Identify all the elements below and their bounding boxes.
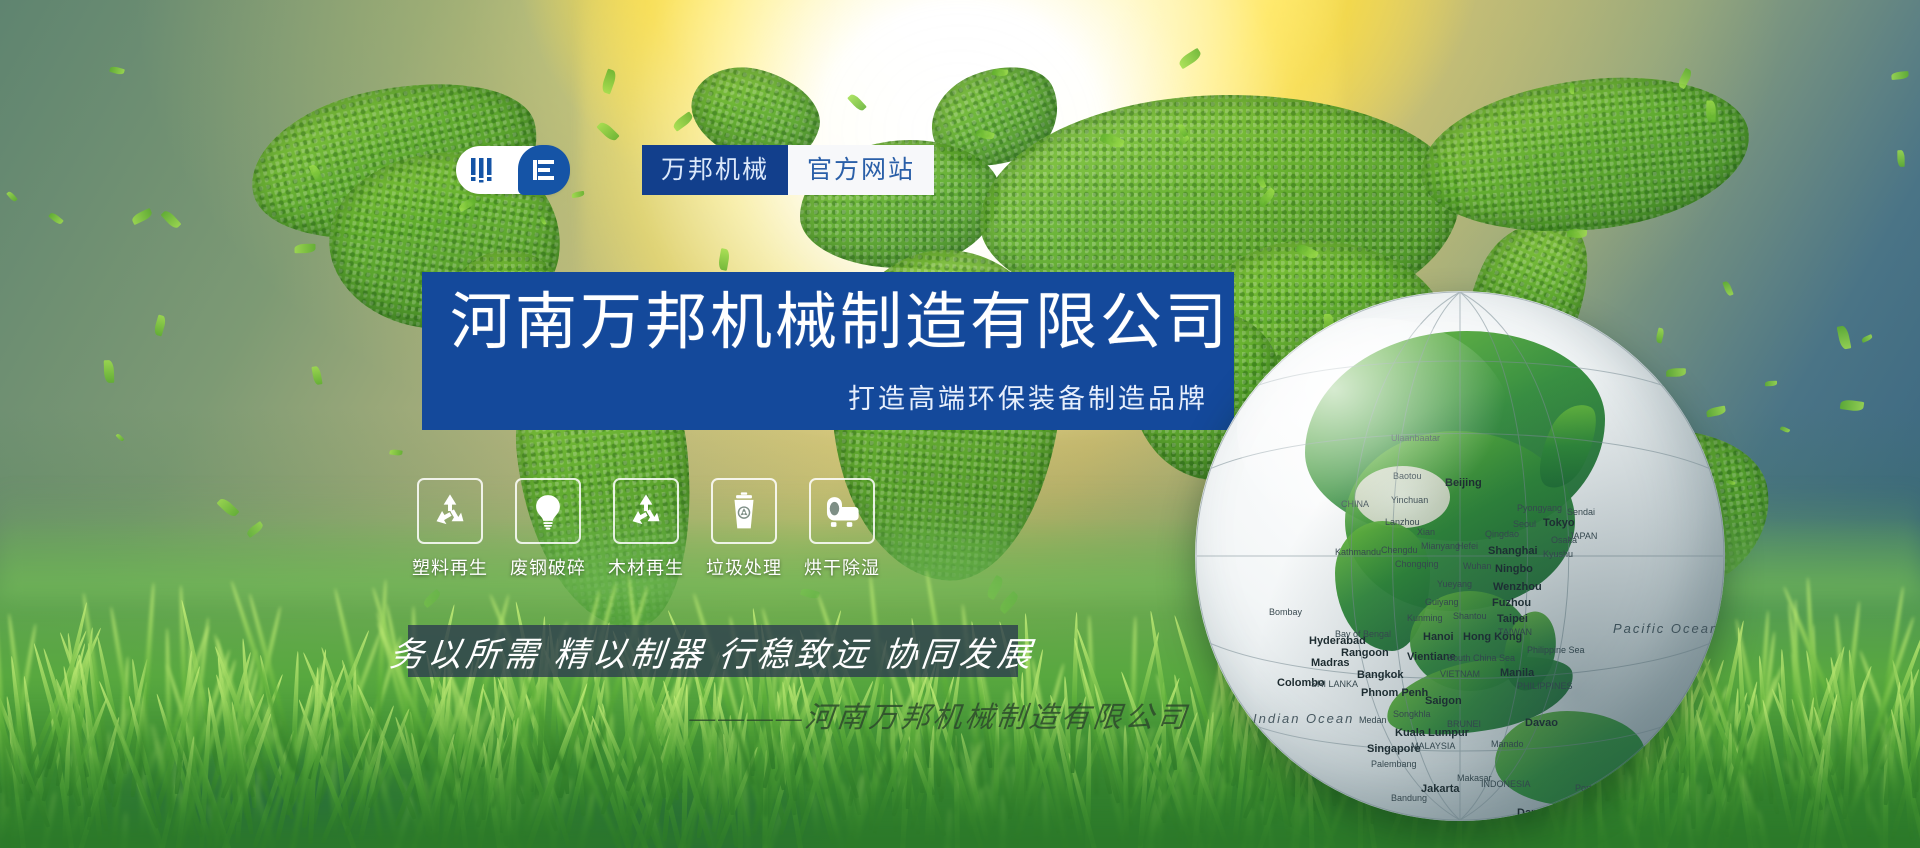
leaf-fleck	[104, 359, 115, 382]
leaf-fleck	[571, 191, 584, 198]
globe-shading	[1195, 291, 1725, 821]
service-icon-row[interactable]: 塑料再生废钢破碎木材再生垃圾处理烘干除湿	[419, 478, 873, 580]
leaf-fleck	[1177, 48, 1203, 70]
logo-speech-bubble	[518, 145, 570, 195]
slogan-attribution: ————河南万邦机械制造有限公司	[688, 694, 1192, 736]
leaf-fleck	[1779, 426, 1790, 434]
service-item-5[interactable]: 烘干除湿	[811, 478, 873, 580]
lightbulb-icon	[515, 478, 581, 544]
leaf-fleck	[294, 243, 315, 252]
leaf-fleck	[1861, 334, 1873, 343]
leaf-fleck	[1706, 100, 1716, 122]
logo-b-icon	[532, 159, 556, 181]
trash-bin-icon	[711, 478, 777, 544]
leaf-fleck	[847, 93, 867, 113]
recycle-icon	[613, 478, 679, 544]
leaf-fleck	[389, 448, 402, 455]
leaf-fleck	[109, 65, 125, 75]
logo-w-icon	[470, 156, 500, 184]
service-label: 烘干除湿	[804, 554, 880, 580]
dryer-icon	[809, 478, 875, 544]
service-label: 木材再生	[608, 554, 684, 580]
tab-wanbang-machinery[interactable]: 万邦机械	[642, 145, 788, 195]
leaf-fleck	[6, 191, 18, 203]
tab-official-website[interactable]: 官方网站	[788, 145, 934, 195]
globe-graphic: UlaanbaatarBeijingBaotouYinchuanLanzhouC…	[1195, 291, 1725, 821]
page-subtitle: 打造高端环保装备制造品牌	[848, 377, 1208, 416]
service-item-2[interactable]: 废钢破碎	[517, 478, 579, 580]
leaf-fleck	[1569, 83, 1575, 94]
leaf-fleck	[115, 433, 124, 442]
slogan-text: 务以所需 精以制器 行稳致远 协同发展	[388, 627, 1039, 676]
service-label: 废钢破碎	[510, 554, 586, 580]
globe-sphere: UlaanbaatarBeijingBaotouYinchuanLanzhouC…	[1195, 291, 1725, 821]
logo-pill	[456, 146, 568, 194]
leaf-fleck	[130, 207, 153, 224]
recycle-icon	[417, 478, 483, 544]
leaf-fleck	[153, 315, 167, 337]
leaf-fleck	[49, 211, 65, 225]
company-title-box: 河南万邦机械制造有限公司 打造高端环保装备制造品牌	[422, 272, 1234, 430]
leaf-fleck	[1840, 399, 1865, 412]
hero-banner: 万邦机械 官方网站 河南万邦机械制造有限公司 打造高端环保装备制造品牌 塑料再生…	[0, 0, 1920, 848]
service-label: 垃圾处理	[706, 554, 782, 580]
leaf-fleck	[1891, 71, 1909, 80]
page-title: 河南万邦机械制造有限公司	[450, 288, 1230, 357]
leaf-fleck	[672, 111, 695, 131]
leaf-fleck	[1567, 228, 1587, 238]
leaf-fleck	[160, 209, 181, 230]
service-label: 塑料再生	[412, 554, 488, 580]
leaf-fleck	[597, 120, 620, 143]
slogan-bar: 务以所需 精以制器 行稳致远 协同发展	[408, 625, 1018, 677]
brand-tabs[interactable]: 万邦机械 官方网站	[642, 145, 934, 195]
leaf-fleck	[600, 68, 618, 94]
leaf-fleck	[1765, 381, 1777, 387]
leaf-fleck	[312, 365, 323, 385]
leaf-fleck	[1898, 150, 1905, 167]
service-item-1[interactable]: 塑料再生	[419, 478, 481, 580]
site-logo[interactable]	[456, 146, 568, 194]
leaf-fleck	[1837, 325, 1852, 350]
service-item-3[interactable]: 木材再生	[615, 478, 677, 580]
leaf-fleck	[992, 68, 1008, 76]
leaf-fleck	[718, 248, 731, 271]
service-item-4[interactable]: 垃圾处理	[713, 478, 775, 580]
